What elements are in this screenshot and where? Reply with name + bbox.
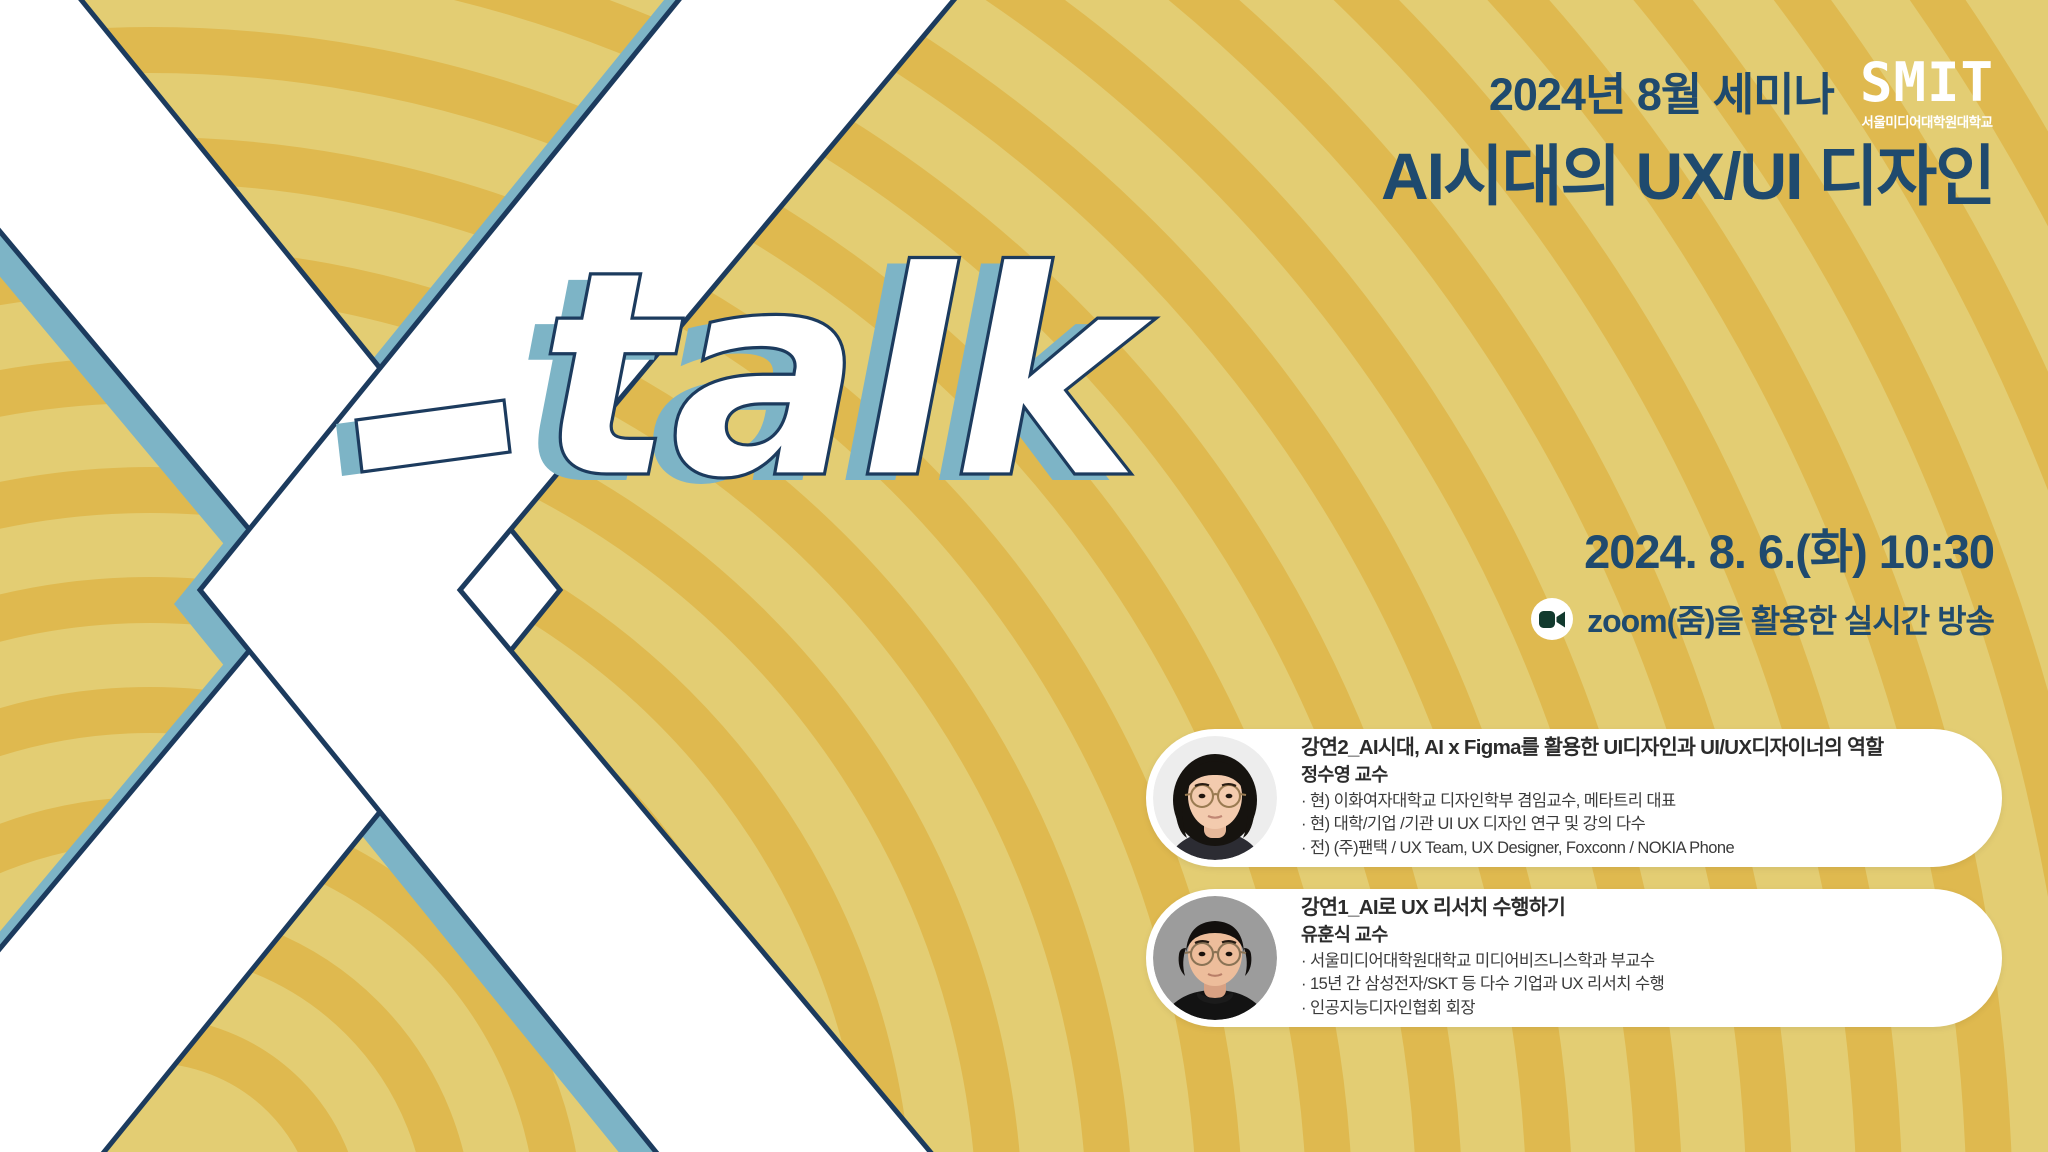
speaker-bullet: 서울미디어대학원대학교 미디어비즈니스학과 부교수 <box>1301 950 1664 974</box>
svg-text:talk: talk <box>538 210 1157 542</box>
smit-logo-subtitle: 서울미디어대학원대학교 <box>1861 111 1992 131</box>
wordmark-script-body: talk <box>538 210 1157 542</box>
speaker-bullet: 현) 이화여자대학교 디자인학부 겸임교수, 메타트리 대표 <box>1301 790 1883 814</box>
video-camera-icon <box>1531 598 1573 640</box>
broadcast-text: zoom(줌)을 활용한 실시간 방송 <box>1587 596 1994 642</box>
speaker-name: 정수영 교수 <box>1301 765 1883 785</box>
event-datetime: 2024. 8. 6.(화) 10:30 <box>1584 528 1994 575</box>
page-title: AI시대의 UX/UI 디자인 <box>1381 140 1994 214</box>
speaker-name: 유훈식 교수 <box>1301 925 1664 945</box>
speaker-body: 강연2_AI시대, AI x Figma를 활용한 UI디자인과 UI/UX디자… <box>1277 736 1913 861</box>
speaker-bullet: 15년 간 삼성전자/SKT 등 다수 기업과 UX 리서치 수행 <box>1301 973 1664 997</box>
x-talk-wordmark: talk talk <box>330 228 1450 568</box>
speaker-bullet: 인공지능디자인협회 회장 <box>1301 997 1664 1021</box>
speaker-bullets: 현) 이화여자대학교 디자인학부 겸임교수, 메타트리 대표 현) 대학/기업 … <box>1301 790 1883 861</box>
poster-canvas: talk talk 2024년 8월 세미나 SMIT 서울미디어대학원대학교 … <box>0 0 2048 1152</box>
speaker-bullet: 현) 대학/기업 /기관 UI UX 디자인 연구 및 강의 다수 <box>1301 813 1883 837</box>
speaker-topic: 강연1_AI로 UX 리서치 수행하기 <box>1301 896 1664 920</box>
wordmark-hyphen <box>336 400 510 476</box>
speaker-bullet: 전) (주)팬택 / UX Team, UX Designer, Foxconn… <box>1301 837 1883 861</box>
poster-header: 2024년 8월 세미나 SMIT 서울미디어대학원대학교 <box>1489 58 1994 131</box>
seminar-label: 2024년 8월 세미나 <box>1489 58 1834 117</box>
x-body-stroke-b <box>200 0 1230 1152</box>
broadcast-info: zoom(줌)을 활용한 실시간 방송 <box>1531 596 1994 642</box>
speaker-card[interactable]: 강연1_AI로 UX 리서치 수행하기 유훈식 교수 서울미디어대학원대학교 미… <box>1146 889 2002 1027</box>
speaker-topic: 강연2_AI시대, AI x Figma를 활용한 UI디자인과 UI/UX디자… <box>1301 736 1883 760</box>
speaker-bullets: 서울미디어대학원대학교 미디어비즈니스학과 부교수 15년 간 삼성전자/SKT… <box>1301 950 1664 1021</box>
avatar <box>1153 736 1277 860</box>
smit-logo-mark: SMIT <box>1860 58 1994 108</box>
speaker-body: 강연1_AI로 UX 리서치 수행하기 유훈식 교수 서울미디어대학원대학교 미… <box>1277 896 1694 1021</box>
avatar <box>1153 896 1277 1020</box>
speaker-card[interactable]: 강연2_AI시대, AI x Figma를 활용한 UI디자인과 UI/UX디자… <box>1146 729 2002 867</box>
smit-logo: SMIT 서울미디어대학원대학교 <box>1860 58 1994 131</box>
